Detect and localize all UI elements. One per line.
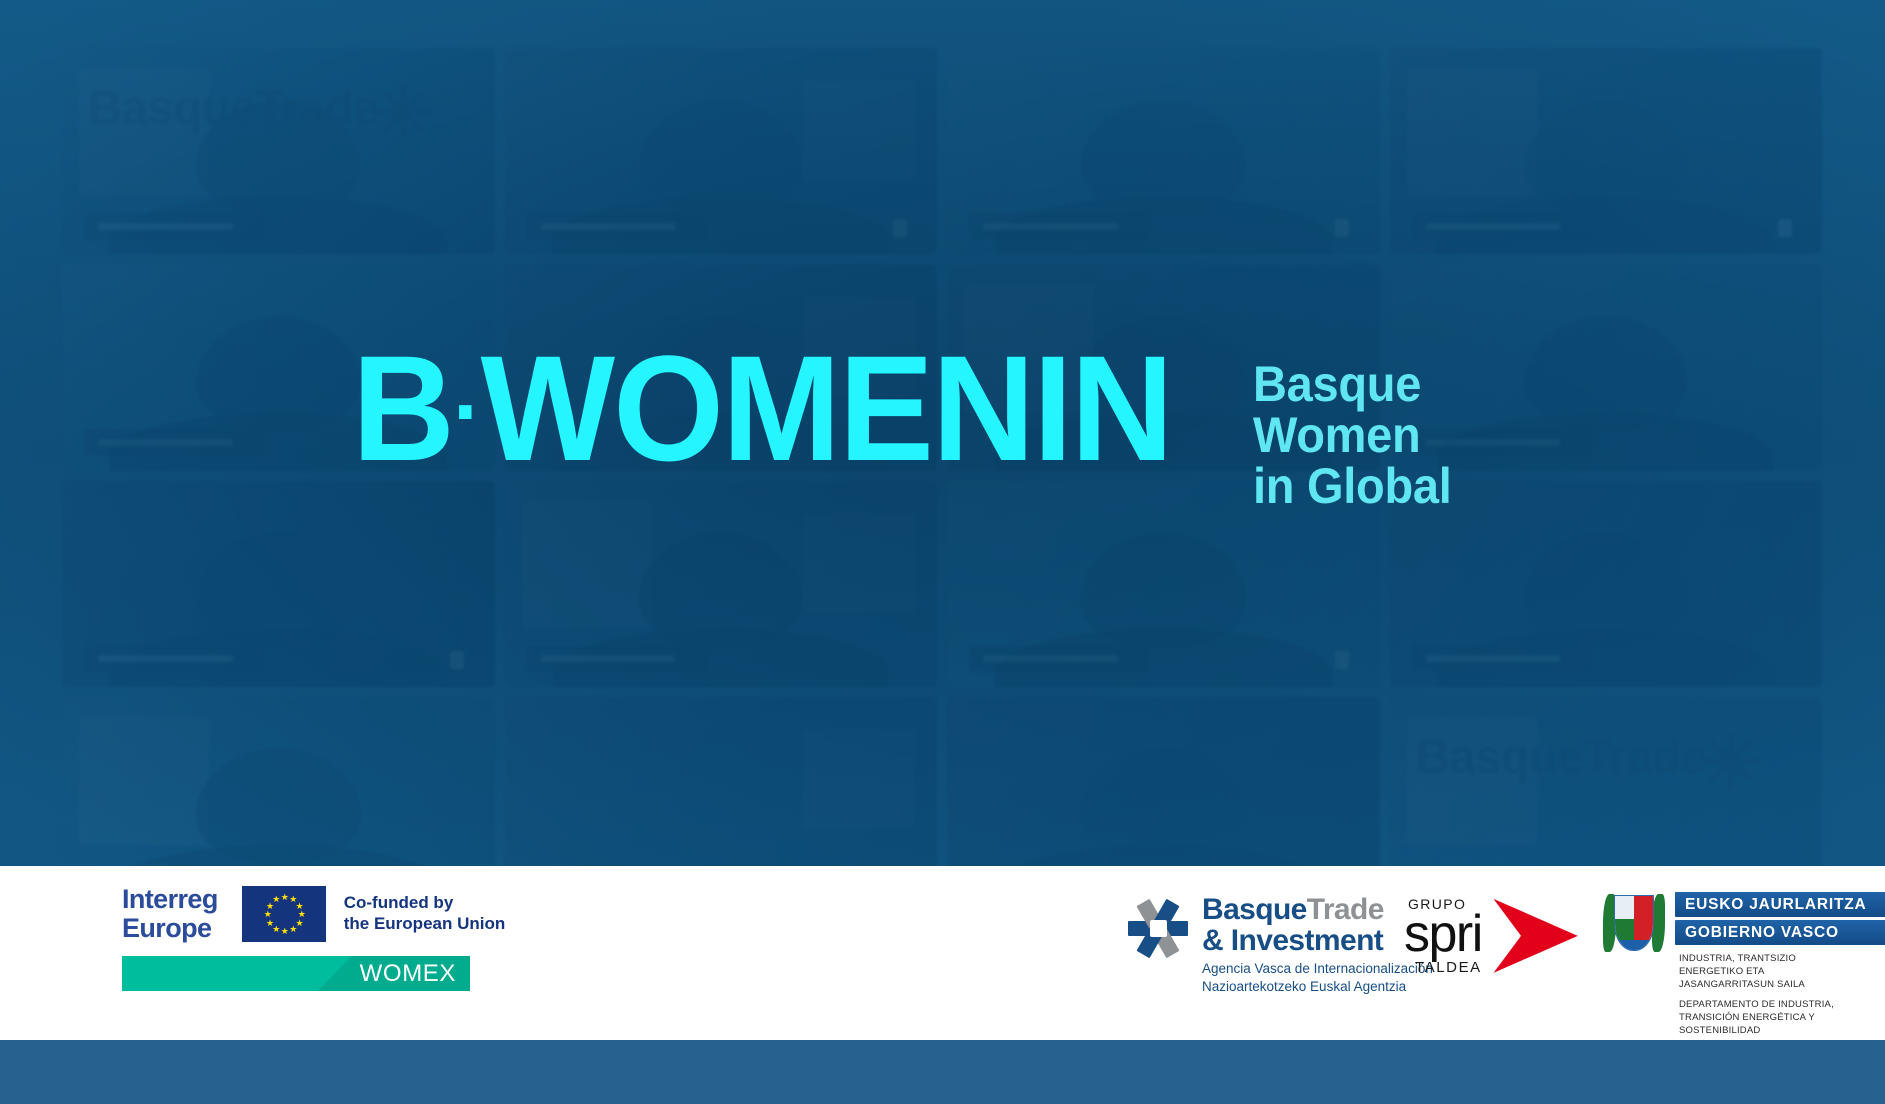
spri-arrow-icon (1492, 899, 1578, 973)
basque-trade-word-basque: Basque (1202, 893, 1307, 926)
shield-quarter-4 (1634, 919, 1653, 942)
eusko-bar-basque: EUSKO JAURLARITZA (1675, 892, 1885, 917)
basque-trade-text: BasqueTrade & Investment Agencia Vasca d… (1202, 894, 1433, 996)
spri-text: GRUPO spri TALDEA (1404, 896, 1482, 976)
eu-flag-icon: ★★★★★★★★★★★★ (242, 886, 326, 942)
shield-field (1614, 895, 1654, 951)
hero-banner: ✳BasqueTrade✳BasqueTrade B·WOMENIN Basqu… (0, 0, 1885, 866)
spri-logo-block: GRUPO spri TALDEA (1404, 896, 1578, 976)
eu-star-icon: ★ (281, 894, 287, 900)
eu-funding-text: Co-funded by the European Union (344, 893, 506, 934)
tagline-line-1: Basque (1253, 359, 1452, 410)
basque-trade-logo-block: BasqueTrade & Investment Agencia Vasca d… (1128, 894, 1433, 996)
basque-trade-line-2: & Investment (1202, 925, 1433, 957)
eu-star-icon: ★ (298, 911, 304, 917)
interreg-logo-block: Interreg Europe ★★★★★★★★★★★★ Co-funded b… (122, 882, 542, 946)
eusko-sub-eu-2: ENERGETIKO ETA (1679, 966, 1885, 979)
eu-star-icon: ★ (295, 903, 301, 909)
eu-star-icon: ★ (289, 896, 295, 902)
basque-trade-sub-line-1: Agencia Vasca de Internacionalización (1202, 960, 1433, 978)
interreg-line-2: Europe (122, 914, 218, 943)
eu-funding-line-2: the European Union (344, 914, 506, 935)
eusko-department-subtitle: INDUSTRIA, TRANTSIZIO ENERGETIKO ETA JAS… (1679, 953, 1885, 1037)
interreg-europe-wordmark: Interreg Europe (122, 885, 218, 942)
eusko-sub-gap (1679, 992, 1885, 999)
eu-star-icon: ★ (281, 928, 287, 934)
eu-funding-line-1: Co-funded by (344, 893, 506, 914)
shield-base (1615, 940, 1653, 950)
shield-quarter-1 (1615, 896, 1634, 919)
eusko-bar-basque-label: EUSKO JAURLARITZA (1685, 896, 1867, 914)
eu-star-icon: ★ (266, 920, 272, 926)
wordmark-title: B·WOMENIN (352, 345, 1172, 471)
eusko-sub-es-3: SOSTENIBILIDAD (1679, 1025, 1885, 1038)
eusko-bar-spanish-label: GOBIERNO VASCO (1685, 924, 1839, 942)
eu-star-icon: ★ (264, 911, 270, 917)
asterisk-core (1150, 920, 1167, 937)
spri-wordmark: spri (1404, 912, 1482, 957)
wordmark-part-2: WOMENIN (481, 324, 1172, 492)
womex-label: WOMEX (360, 960, 456, 988)
eusko-sub-es-1: DEPARTAMENTO DE INDUSTRIA, (1679, 999, 1885, 1012)
basque-coat-of-arms-icon (1603, 892, 1665, 956)
eusko-text-block: EUSKO JAURLARITZA GOBIERNO VASCO INDUSTR… (1675, 892, 1885, 1037)
shield-quarter-3 (1615, 919, 1634, 942)
eusko-jaurlaritza-logo-block: EUSKO JAURLARITZA GOBIERNO VASCO INDUSTR… (1603, 892, 1885, 1037)
basque-trade-subtitle: Agencia Vasca de Internacionalización Na… (1202, 960, 1433, 996)
tagline: Basque Women in Global (1253, 359, 1452, 512)
eu-star-icon: ★ (289, 926, 295, 932)
basque-trade-sub-line-2: Nazioartekotzeko Euskal Agentzia (1202, 978, 1433, 996)
eusko-sub-es-2: TRANSICIÓN ENERGÉTICA Y (1679, 1012, 1885, 1025)
eu-star-icon: ★ (272, 896, 278, 902)
interreg-row: Interreg Europe ★★★★★★★★★★★★ Co-funded b… (122, 882, 542, 946)
eusko-sub-eu-1: INDUSTRIA, TRANTSIZIO (1679, 953, 1885, 966)
eusko-sub-eu-3: JASANGARRITASUN SAILA (1679, 979, 1885, 992)
basque-trade-word-trade: Trade (1307, 893, 1384, 926)
womex-banner: WOMEX (122, 956, 470, 991)
shield-quarter-2 (1634, 896, 1653, 919)
tagline-line-2: Women (1253, 410, 1452, 461)
bottom-accent-band (0, 1040, 1885, 1104)
poster-canvas: ✳BasqueTrade✳BasqueTrade B·WOMENIN Basqu… (0, 0, 1885, 1104)
interreg-line-1: Interreg (122, 884, 218, 914)
eu-star-icon: ★ (266, 903, 272, 909)
basque-trade-line-1: BasqueTrade (1202, 894, 1433, 925)
basque-trade-asterisk-icon (1128, 898, 1188, 958)
tagline-line-3: in Global (1253, 461, 1452, 512)
brand-lockup: B·WOMENIN Basque Women in Global (352, 345, 1464, 512)
wordmark-separator-dot: · (453, 372, 481, 450)
eusko-bar-spanish: GOBIERNO VASCO (1675, 920, 1885, 945)
sponsor-footer: Interreg Europe ★★★★★★★★★★★★ Co-funded b… (0, 866, 1885, 1040)
wordmark-part-1: B (352, 324, 453, 492)
